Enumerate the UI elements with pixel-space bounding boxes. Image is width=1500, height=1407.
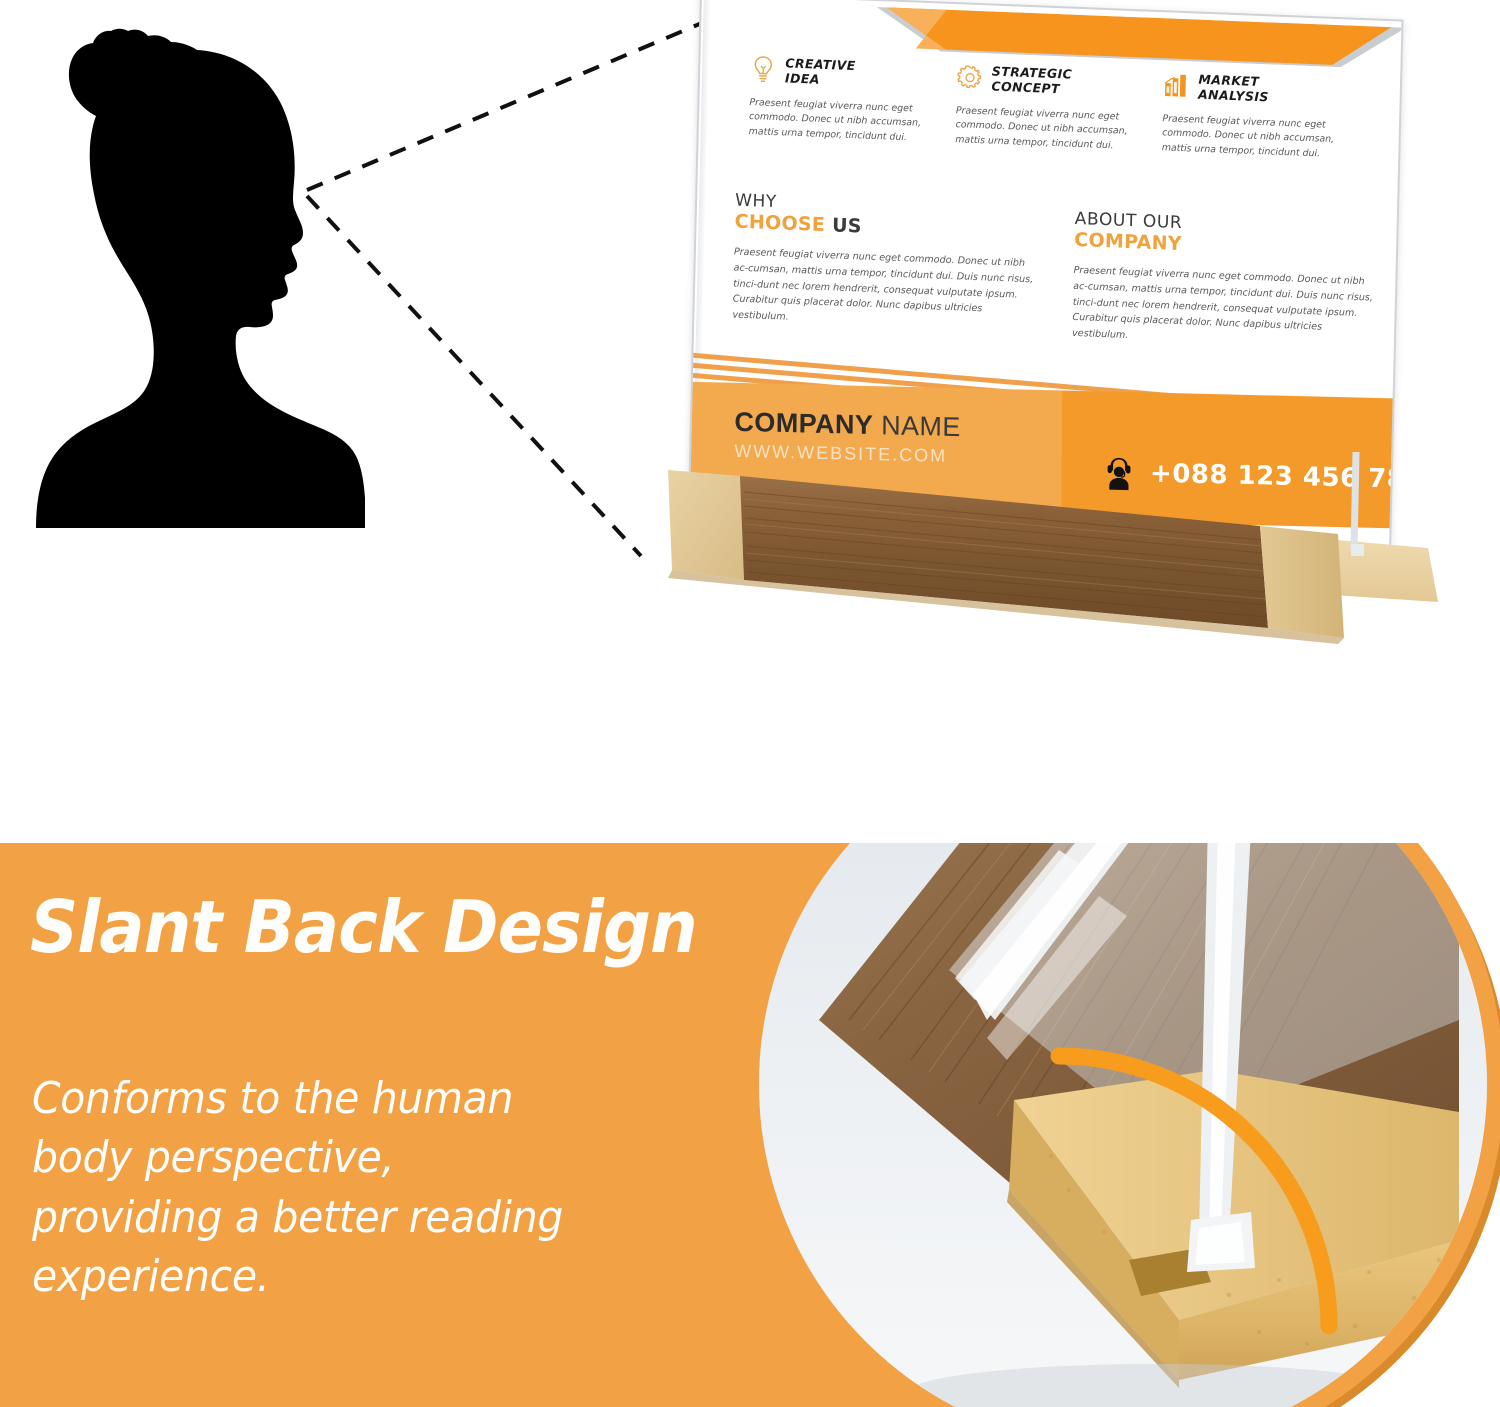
feature-title: CREATIVE IDEA bbox=[785, 55, 856, 88]
sign-text-blocks: WHY CHOOSE US Praesent feugiat viverra n… bbox=[732, 192, 1375, 353]
company-name-light: NAME bbox=[873, 410, 961, 442]
bar-chart-icon bbox=[1163, 71, 1190, 102]
company-name-bold: COMPANY bbox=[734, 407, 873, 440]
block-body: Praesent feugiat viverra nunc eget commo… bbox=[1072, 263, 1374, 352]
acrylic-sign-holder: CREATIVE IDEA Praesent feugiat viverra n… bbox=[700, 0, 1420, 592]
description-line: body perspective, bbox=[32, 1128, 739, 1187]
block-title-highlight: COMPANY bbox=[1074, 229, 1182, 255]
feature-body: Praesent feugiat viverra nunc eget commo… bbox=[749, 96, 943, 147]
feature-item: STRATEGIC CONCEPT Praesent feugiat viver… bbox=[955, 62, 1164, 155]
why-choose-us-block: WHY CHOOSE US Praesent feugiat viverra n… bbox=[732, 192, 1035, 340]
description-line: experience. bbox=[32, 1247, 739, 1306]
photo-ring bbox=[742, 843, 1500, 1407]
feature-title: STRATEGIC CONCEPT bbox=[991, 64, 1072, 98]
closeup-photo-inset bbox=[742, 843, 1500, 1407]
company-name: COMPANY NAME bbox=[734, 407, 960, 443]
block-body: Praesent feugiat viverra nunc eget commo… bbox=[732, 245, 1034, 334]
feature-item: CREATIVE IDEA Praesent feugiat viverra n… bbox=[749, 54, 958, 147]
product-infographic: CREATIVE IDEA Praesent feugiat viverra n… bbox=[0, 0, 1500, 1407]
wooden-base bbox=[648, 452, 1438, 662]
block-title-highlight: CHOOSE bbox=[734, 210, 825, 236]
feature-body: Praesent feugiat viverra nunc eget commo… bbox=[955, 104, 1149, 155]
description-line: Conforms to the human bbox=[32, 1069, 739, 1128]
feature-body: Praesent feugiat viverra nunc eget commo… bbox=[1162, 112, 1356, 163]
marketing-description: Conforms to the human body perspective, … bbox=[32, 1069, 739, 1307]
feature-item: MARKET ANALYSIS Praesent feugiat viverra… bbox=[1162, 70, 1371, 163]
lightbulb-icon bbox=[750, 54, 777, 85]
block-title-rest: US bbox=[825, 214, 862, 237]
feature-columns: CREATIVE IDEA Praesent feugiat viverra n… bbox=[749, 54, 1371, 164]
feature-title: MARKET ANALYSIS bbox=[1198, 72, 1269, 105]
about-company-block: ABOUT OUR COMPANY Praesent feugiat viver… bbox=[1072, 205, 1375, 353]
marketing-panel: Slant Back Design Conforms to the human … bbox=[0, 843, 1500, 1407]
female-head-profile-silhouette bbox=[22, 28, 367, 528]
base-and-acrylic-panel-closeup bbox=[759, 843, 1487, 1407]
page-title: Slant Back Design bbox=[30, 891, 793, 963]
gear-icon bbox=[956, 62, 983, 93]
viewing-angle-scene: CREATIVE IDEA Praesent feugiat viverra n… bbox=[0, 0, 1500, 700]
description-line: providing a better reading bbox=[32, 1188, 739, 1247]
